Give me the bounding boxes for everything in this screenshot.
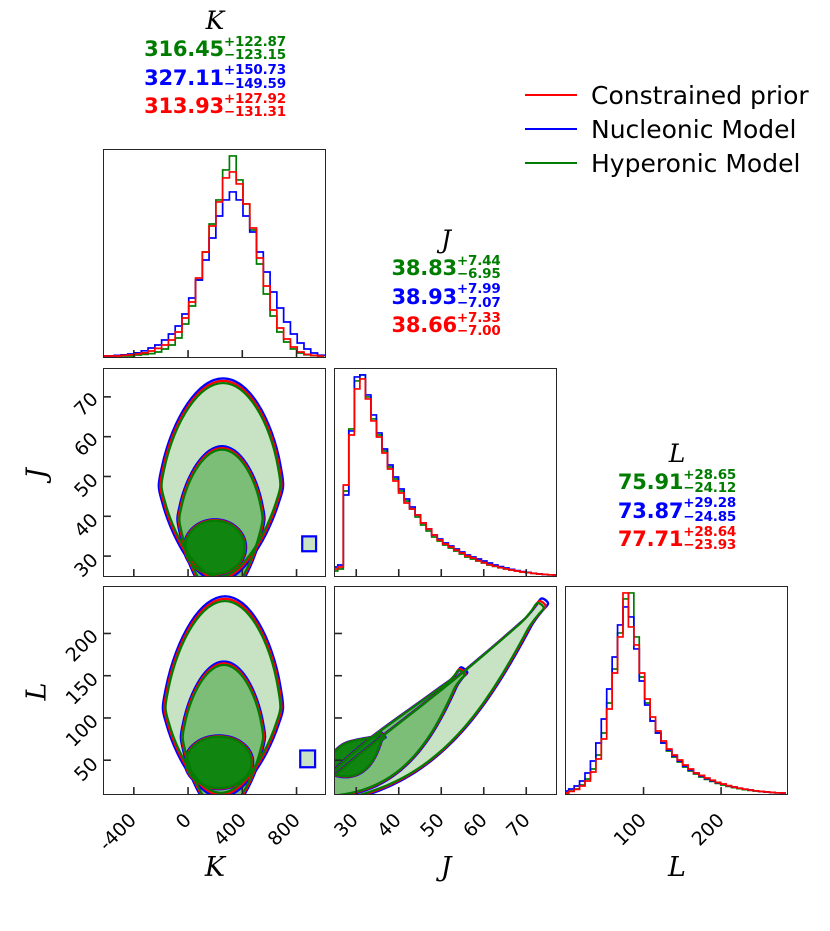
- stat-J-hyperonic: 38.83+7.44−6.95: [335, 255, 557, 283]
- stat-minus: −7.07: [457, 297, 501, 311]
- stat-minus: −6.95: [457, 268, 501, 282]
- axis-label-y-J: J: [22, 363, 53, 585]
- stat-uncertainty: +150.73−149.59: [224, 64, 286, 92]
- panel-contour-J-L[interactable]: [334, 586, 557, 795]
- stat-uncertainty: +122.87−123.15: [224, 36, 286, 64]
- panel-hist-L[interactable]: [565, 586, 788, 795]
- title-variable-K: K: [104, 8, 326, 33]
- stat-minus: −24.12: [683, 482, 736, 496]
- stat-K-constrained: 313.93+127.92−131.31: [104, 93, 326, 121]
- title-block-K: K 316.45+122.87−123.15 327.11+150.73−149…: [104, 8, 326, 122]
- stat-value: 38.93: [391, 284, 456, 308]
- legend-label-nucleonic-model: Nucleonic Model: [591, 115, 796, 144]
- stat-K-nucleonic: 327.11+150.73−149.59: [104, 65, 326, 93]
- legend-item-hyperonic-model: Hyperonic Model: [525, 146, 809, 180]
- stat-uncertainty: +7.99−7.07: [457, 283, 501, 311]
- panel-contour-K-J[interactable]: [103, 368, 326, 577]
- stat-minus: −123.15: [224, 49, 286, 63]
- stat-minus: −131.31: [224, 106, 286, 120]
- legend-swatch-hyperonic-model: [525, 162, 577, 164]
- axis-label-x-K: K: [104, 852, 326, 883]
- stat-value: 316.45: [144, 37, 224, 61]
- stat-K-hyperonic: 316.45+122.87−123.15: [104, 36, 326, 64]
- stat-uncertainty: +28.65−24.12: [683, 469, 736, 497]
- axis-label-x-L: L: [566, 852, 788, 883]
- stat-uncertainty: +7.44−6.95: [457, 255, 501, 283]
- stat-uncertainty: +7.33−7.00: [457, 312, 501, 340]
- stat-value: 75.91: [618, 470, 683, 494]
- legend-label-hyperonic-model: Hyperonic Model: [591, 149, 800, 178]
- axis-label-y-L: L: [22, 581, 53, 803]
- stat-value: 77.71: [618, 527, 683, 551]
- stat-value: 313.93: [144, 94, 224, 118]
- title-block-J: J 38.83+7.44−6.95 38.93+7.99−7.07 38.66+…: [335, 227, 557, 341]
- legend-swatch-constrained-prior: [525, 94, 577, 96]
- legend-swatch-nucleonic-model: [525, 128, 577, 130]
- stat-J-nucleonic: 38.93+7.99−7.07: [335, 284, 557, 312]
- stat-minus: −149.59: [224, 78, 286, 92]
- panel-hist-K[interactable]: [103, 149, 326, 358]
- stat-minus: −24.85: [683, 511, 736, 525]
- title-variable-J: J: [335, 227, 557, 252]
- legend-item-constrained-prior: Constrained prior: [525, 78, 809, 112]
- legend: Constrained prior Nucleonic Model Hypero…: [525, 78, 809, 180]
- stat-minus: −7.00: [457, 325, 501, 339]
- stat-L-nucleonic: 73.87+29.28−24.85: [566, 498, 788, 526]
- stat-L-constrained: 77.71+28.64−23.93: [566, 526, 788, 554]
- stat-value: 38.83: [391, 256, 456, 280]
- stat-L-hyperonic: 75.91+28.65−24.12: [566, 469, 788, 497]
- stat-uncertainty: +28.64−23.93: [683, 526, 736, 554]
- stat-value: 38.66: [391, 313, 456, 337]
- panel-contour-K-L[interactable]: [103, 586, 326, 795]
- stat-uncertainty: +29.28−24.85: [683, 497, 736, 525]
- panel-hist-J[interactable]: [334, 368, 557, 577]
- stat-value: 327.11: [144, 65, 224, 89]
- title-variable-L: L: [566, 441, 788, 466]
- title-block-L: L 75.91+28.65−24.12 73.87+29.28−24.85 77…: [566, 441, 788, 555]
- stat-uncertainty: +127.92−131.31: [224, 93, 286, 121]
- legend-label-constrained-prior: Constrained prior: [591, 81, 809, 110]
- stat-J-constrained: 38.66+7.33−7.00: [335, 312, 557, 340]
- legend-item-nucleonic-model: Nucleonic Model: [525, 112, 809, 146]
- axis-label-x-J: J: [335, 852, 557, 883]
- stat-minus: −23.93: [683, 539, 736, 553]
- stat-value: 73.87: [618, 498, 683, 522]
